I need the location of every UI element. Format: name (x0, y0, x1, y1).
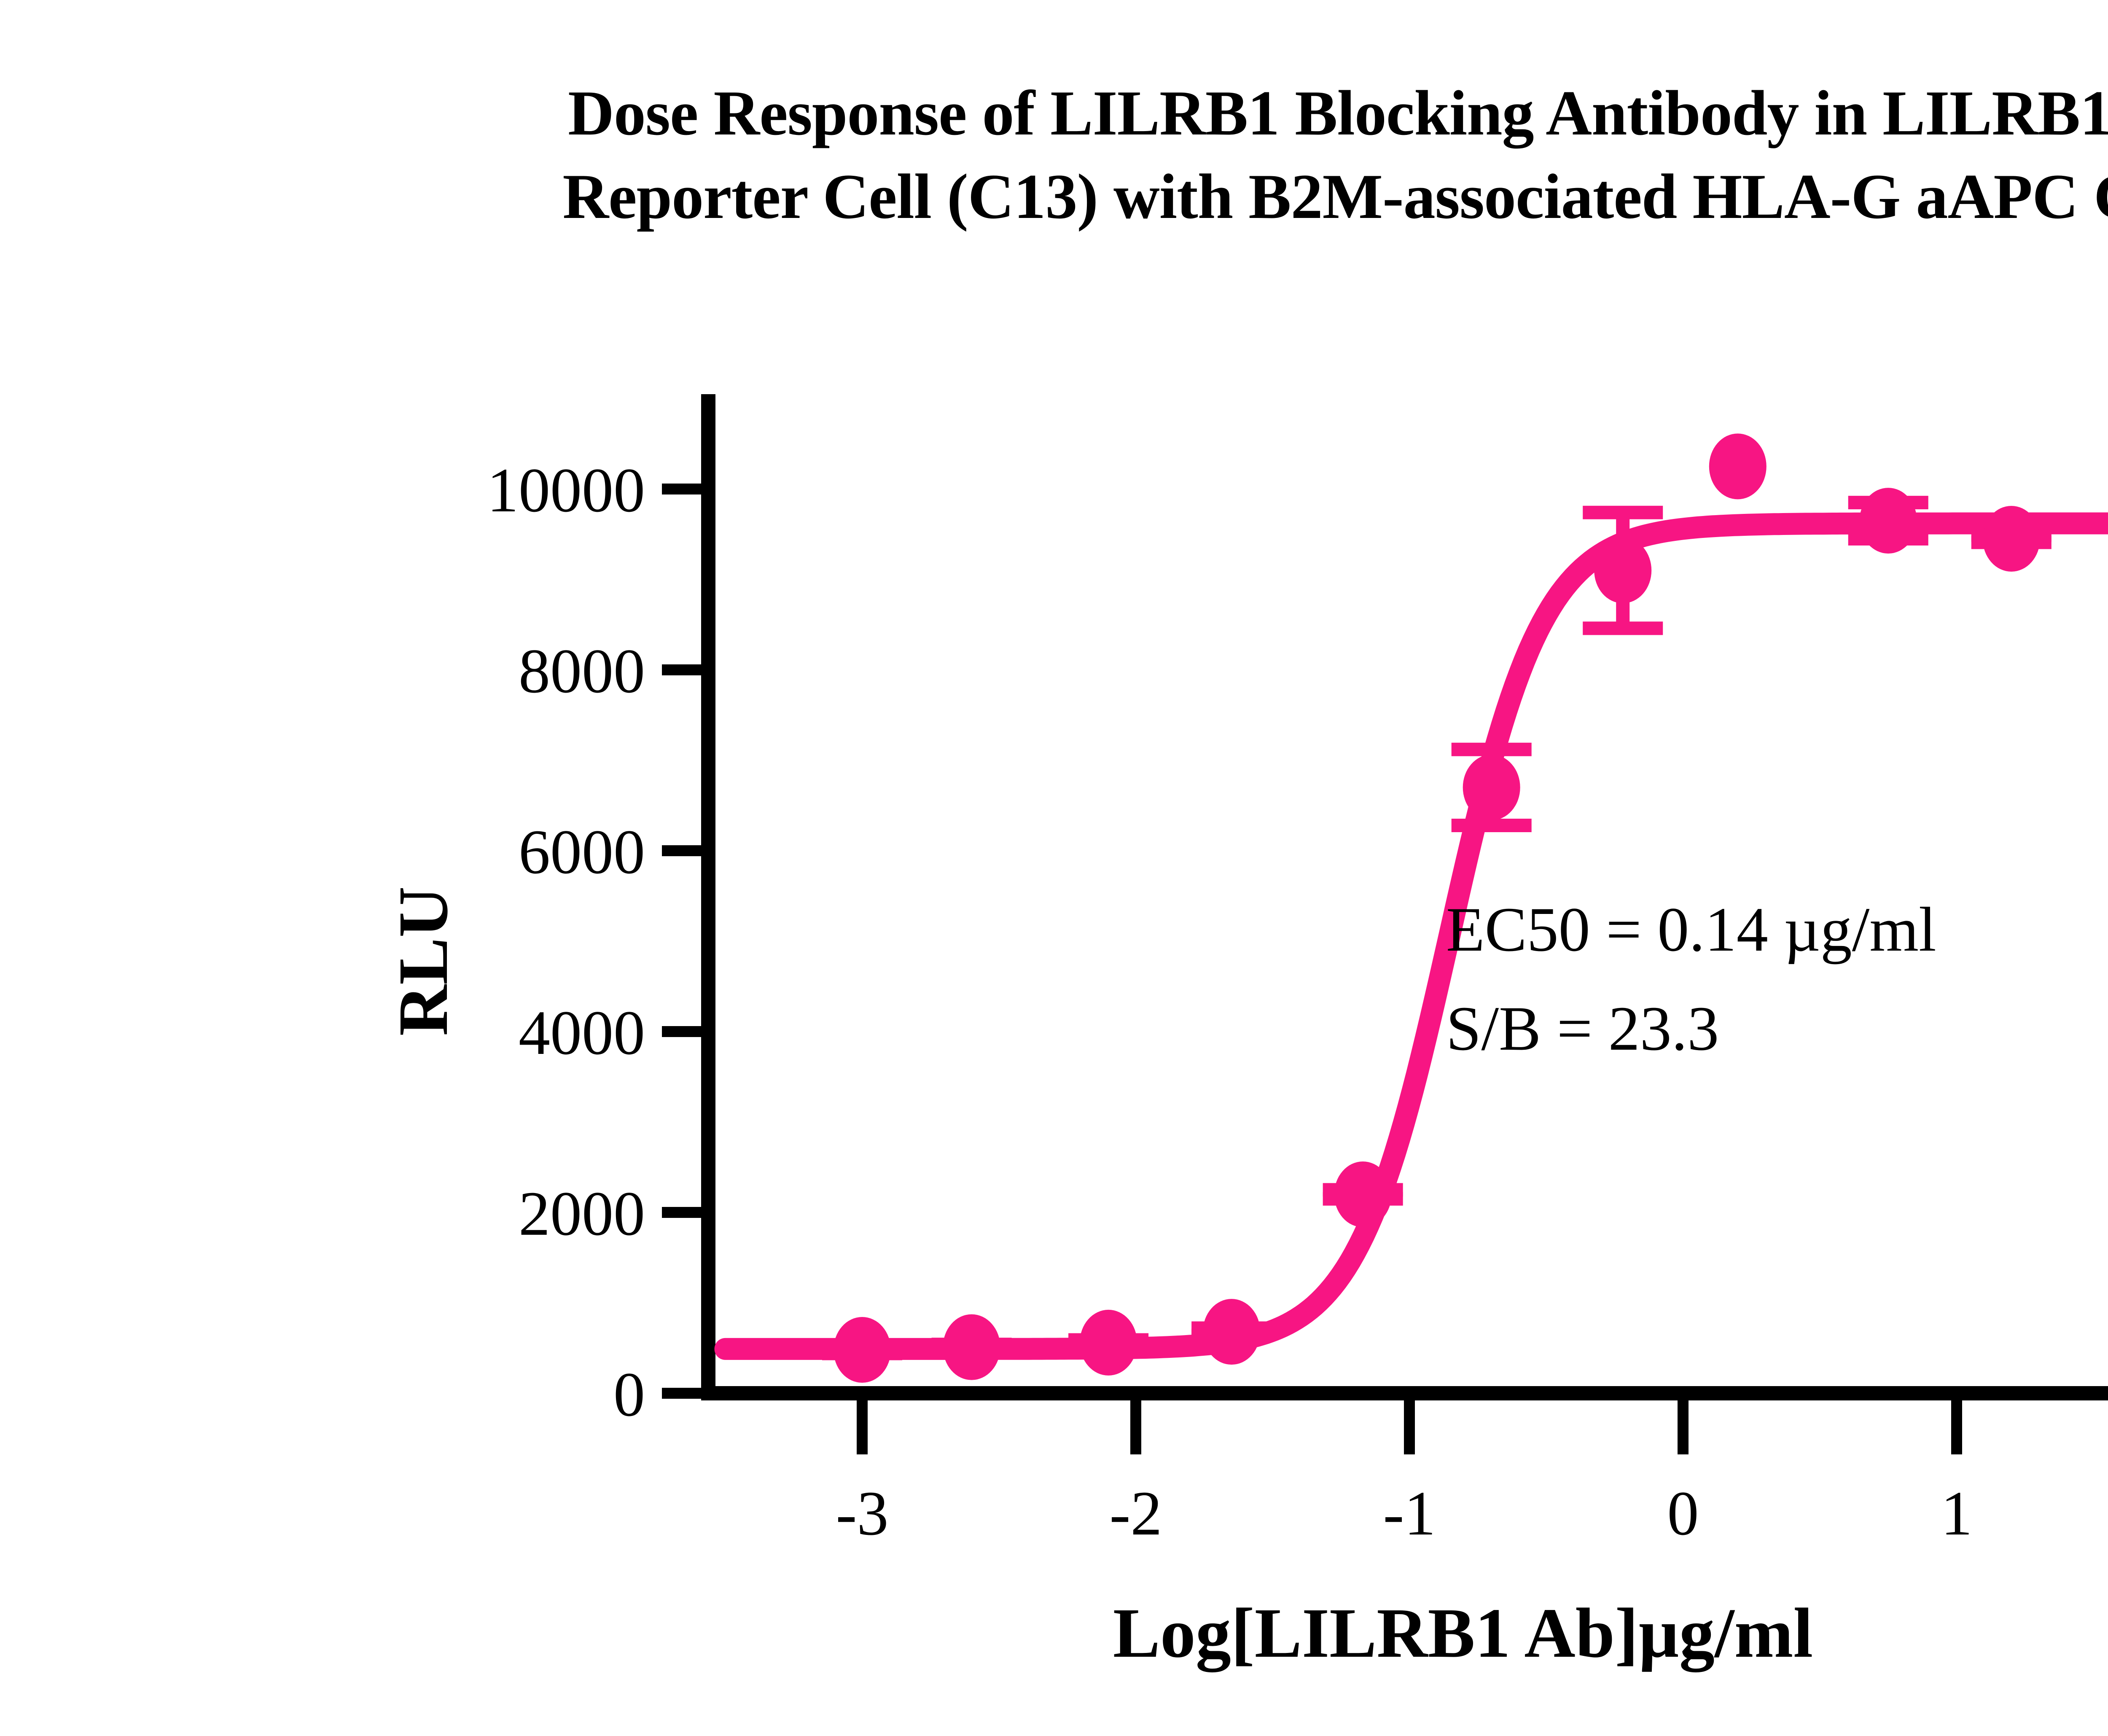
y-axis-tick-labels: 0 2000 4000 6000 8000 10000 (487, 455, 645, 1430)
x-axis-ticks (862, 1393, 2108, 1454)
x-tick-label-neg3: -3 (836, 1478, 889, 1548)
data-point-marker (1709, 433, 1767, 499)
dose-response-plot: 0 2000 4000 6000 8000 10000 -3 -2 -1 0 1… (0, 0, 2108, 1736)
data-point-marker (1334, 1161, 1392, 1227)
y-tick-label-0: 0 (613, 1360, 645, 1430)
y-axis-title: RLU (384, 887, 462, 1036)
y-tick-label-6000: 6000 (519, 817, 645, 887)
x-tick-label-1: 1 (1941, 1478, 1973, 1548)
x-axis-tick-labels: -3 -2 -1 0 1 2 (836, 1478, 2108, 1548)
data-point-marker (1983, 506, 2040, 572)
data-point-marker (1594, 537, 1651, 603)
data-point-marker (1860, 488, 1917, 554)
chart-page: Dose Response of LILRB1 Blocking Antibod… (0, 0, 2108, 1736)
ec50-annotation: EC50 = 0.14 µg/ml (1446, 895, 1936, 965)
sb-annotation: S/B = 23.3 (1446, 994, 1719, 1064)
x-tick-label-0: 0 (1667, 1478, 1699, 1548)
data-point-marker (834, 1317, 891, 1383)
y-tick-label-4000: 4000 (519, 998, 645, 1068)
y-tick-label-2000: 2000 (519, 1179, 645, 1249)
data-point-marker (943, 1314, 1000, 1380)
y-tick-label-8000: 8000 (519, 636, 645, 706)
x-axis-title: Log[LILRB1 Ab]µg/ml (1113, 1594, 1813, 1672)
data-point-marker (1203, 1299, 1260, 1365)
x-tick-label-neg2: -2 (1110, 1478, 1162, 1548)
y-tick-label-10000: 10000 (487, 455, 645, 525)
x-tick-label-neg1: -1 (1383, 1478, 1436, 1548)
data-point-marker (1080, 1310, 1137, 1376)
data-point-marker (1463, 755, 1520, 820)
